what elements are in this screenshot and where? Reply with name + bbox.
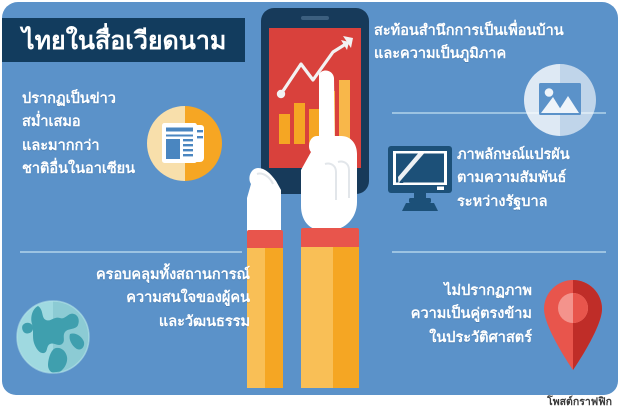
text-line: ชาติอื่นในอาเซียน — [22, 158, 135, 181]
credit-label: โพสต์กราฟฟิก — [547, 393, 612, 410]
right-cuff — [301, 228, 359, 248]
smartphone-illustration — [245, 2, 385, 395]
photo-icon — [524, 64, 596, 136]
main-panel: ไทยในสื่อเวียดนาม ปรากฏเป็นข่าว สม่ำเสมอ… — [2, 2, 618, 395]
text-line: และความเป็นภูมิภาค — [374, 43, 564, 66]
monitor-icon — [384, 142, 456, 214]
text-line: สะท้อนสำนึกการเป็นเพื่อนบ้าน — [374, 20, 564, 43]
divider-bottom-left — [20, 251, 242, 253]
divider-bottom-right — [392, 251, 606, 253]
text-line: ไม่ปรากฏภาพ — [380, 280, 532, 303]
monitor-glyph — [384, 142, 456, 214]
text-line: ความสนใจของผู้คน — [50, 287, 250, 310]
text-line: ภาพลักษณ์แปรผัน — [457, 144, 570, 167]
text-block-bottom-left: ครอบคลุมทั้งสถานการณ์ ความสนใจของผู้คน แ… — [50, 264, 250, 334]
left-cuff — [247, 230, 283, 249]
infographic-root: ไทยในสื่อเวียดนาม ปรากฏเป็นข่าว สม่ำเสมอ… — [0, 0, 620, 413]
text-block-top-right: สะท้อนสำนึกการเป็นเพื่อนบ้าน และความเป็น… — [374, 20, 564, 67]
text-line: สม่ำเสมอ — [22, 111, 135, 134]
text-line: และวัฒนธรรม — [50, 311, 250, 334]
newspaper-icon — [147, 106, 222, 181]
right-sleeve-shadow — [333, 247, 359, 388]
newspaper-glyph — [147, 106, 222, 181]
smartphone-and-hands-graphic — [245, 2, 385, 395]
text-block-bottom-right: ไม่ปรากฏภาพ ความเป็นคู่ตรงข้าม ในประวัติ… — [380, 280, 532, 350]
text-line: ปรากฏเป็นข่าว — [22, 88, 135, 111]
left-hand — [247, 168, 283, 388]
text-line: และมากกว่า — [22, 135, 135, 158]
left-sleeve-shadow — [265, 248, 283, 388]
map-pin-glyph — [542, 278, 604, 372]
text-line: ตามความสัมพันธ์ — [457, 167, 570, 190]
text-block-top-left: ปรากฏเป็นข่าว สม่ำเสมอ และมากกว่า ชาติอื… — [22, 88, 135, 182]
photo-glyph — [524, 64, 596, 136]
page-title: ไทยในสื่อเวียดนาม — [2, 28, 226, 53]
text-line: ในประวัติศาสตร์ — [380, 327, 532, 350]
text-line: ความเป็นคู่ตรงข้าม — [380, 303, 532, 326]
text-line: ระหว่างรัฐบาล — [457, 191, 570, 214]
text-block-middle-right: ภาพลักษณ์แปรผัน ตามความสัมพันธ์ ระหว่างร… — [457, 144, 570, 214]
map-pin-icon — [542, 278, 604, 372]
text-line: ครอบคลุมทั้งสถานการณ์ — [50, 264, 250, 287]
title-banner: ไทยในสื่อเวียดนาม — [2, 18, 245, 62]
